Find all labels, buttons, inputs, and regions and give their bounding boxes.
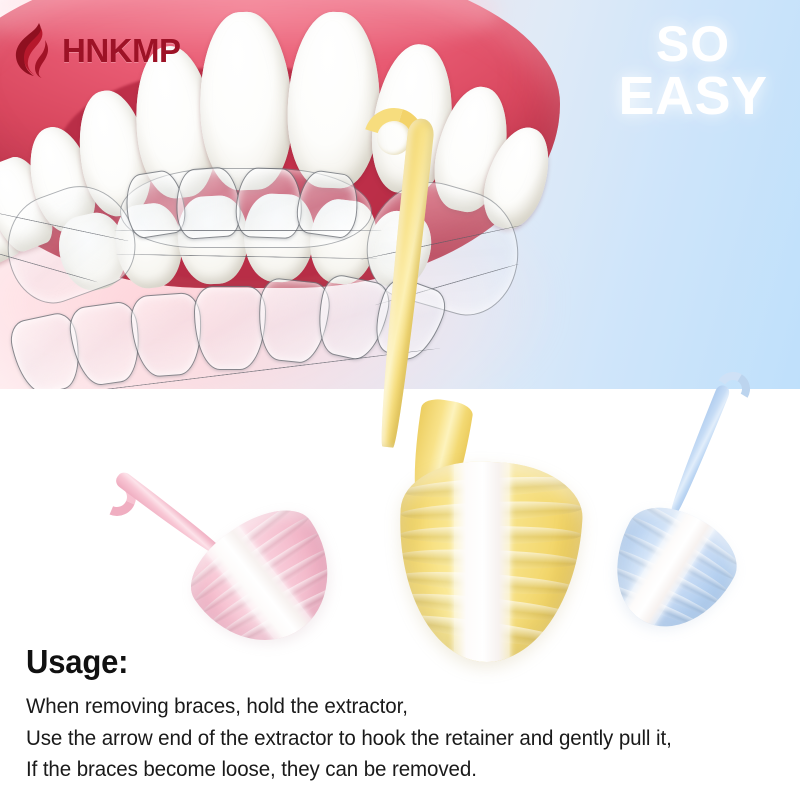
- usage-line: Use the arrow end of the extractor to ho…: [26, 723, 733, 755]
- usage-heading: Usage:: [26, 645, 722, 678]
- product-marketing-image: HNKMP SO EASY: [0, 0, 800, 800]
- extractor-blue-neck: [668, 383, 732, 514]
- usage-section: Usage: When removing braces, hold the ex…: [26, 645, 766, 786]
- usage-line: When removing braces, hold the extractor…: [26, 691, 733, 723]
- usage-line: If the braces become loose, they can be …: [26, 754, 733, 786]
- extractor-blue-handle: [592, 491, 751, 649]
